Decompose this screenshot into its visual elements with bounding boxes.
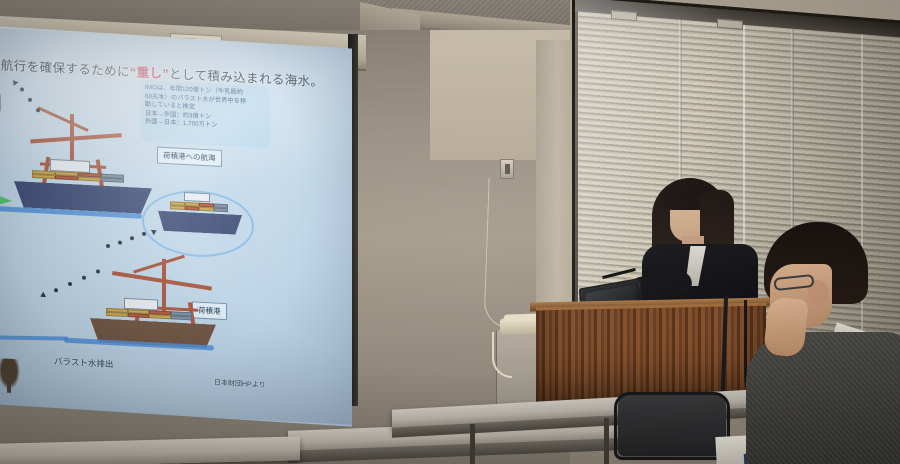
slide-callout-box: IMOは、年間120億トン（牛乳瓶約 60兆本）のバラスト水が世界中を移 動して… <box>140 80 270 149</box>
wall-jack[interactable] <box>500 159 514 179</box>
slide-ship-voyage <box>158 199 242 243</box>
slide-label-unload-port: 上港 <box>0 93 1 111</box>
attendee <box>752 222 900 464</box>
projection-screen: 定航行を確保するために“重し”として積み込まれる海水。 IMOは、年間120億ト… <box>0 26 352 427</box>
slide-source-credit: 日本財団HPより <box>214 378 266 391</box>
table-leg <box>470 424 475 464</box>
chair-frame <box>614 392 730 460</box>
slide-arrow-up-left <box>10 77 44 113</box>
slide-discharge-stream <box>0 335 68 340</box>
table-leg <box>604 418 609 464</box>
photo-scene: AV SCREEN 定航行を確保するために“重し”として積み込まれる海水。 IM… <box>0 0 900 464</box>
slide-label-ballast-discharge: バラスト水排出 <box>54 355 113 370</box>
slide-title-emphasis: “重し” <box>130 65 169 81</box>
slide-arrow-to-load <box>40 266 104 303</box>
slide-tree <box>0 358 22 393</box>
slide-arrow-to-voyage <box>106 226 166 259</box>
attendee-jacket <box>746 332 900 464</box>
wall-cable <box>483 178 514 329</box>
slide-content: 定航行を確保するために“重し”として積み込まれる海水。 IMOは、年間120億ト… <box>0 28 352 425</box>
slide-label-voyage: 荷積港への航海 <box>157 147 222 167</box>
slide-green-wedge <box>0 187 12 213</box>
slide-title-prefix: 定航行を確保するために <box>0 58 130 79</box>
